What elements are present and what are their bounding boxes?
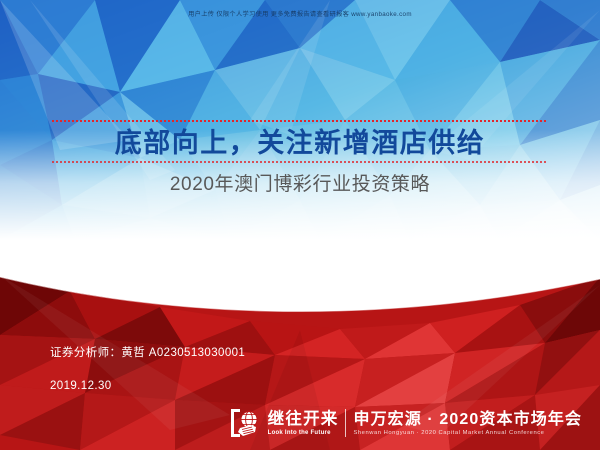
slide-date: 2019.12.30 <box>50 380 112 392</box>
dotted-divider-below-title <box>52 161 548 163</box>
analyst-credit: 证券分析师：黄哲 A0230513030001 <box>50 344 245 360</box>
conference-branding-lockup: 继往开来 Look Into the Future 申万宏源 · 2020资本市… <box>229 404 582 438</box>
brand-divider <box>345 409 346 437</box>
watermark-text: 用户上传 仅限个人学习使用 更多免费报告请查看研报客 www.yanbaoke.… <box>0 9 600 18</box>
dotted-divider-above-title <box>52 120 548 122</box>
conference-name-en: Shenwan Hongyuan · 2020 Capital Market A… <box>353 429 582 438</box>
conference-name-cn: 申万宏源 · 2020资本市场年会 <box>353 410 582 429</box>
page-subtitle: 2020年澳门博彩行业投资策略 <box>0 172 600 198</box>
presentation-title-slide: 用户上传 仅限个人学习使用 更多免费报告请查看研报客 www.yanbaoke.… <box>0 0 600 450</box>
page-title: 底部向上，关注新增酒店供给 <box>0 126 600 160</box>
hand-globe-logo-icon <box>229 408 263 438</box>
brand-slogan-cn: 继往开来 <box>268 410 339 429</box>
conference-name: 申万宏源 · 2020资本市场年会 Shenwan Hongyuan · 202… <box>353 410 582 438</box>
brand-slogan: 继往开来 Look Into the Future <box>268 410 339 438</box>
brand-slogan-en: Look Into the Future <box>268 429 339 438</box>
